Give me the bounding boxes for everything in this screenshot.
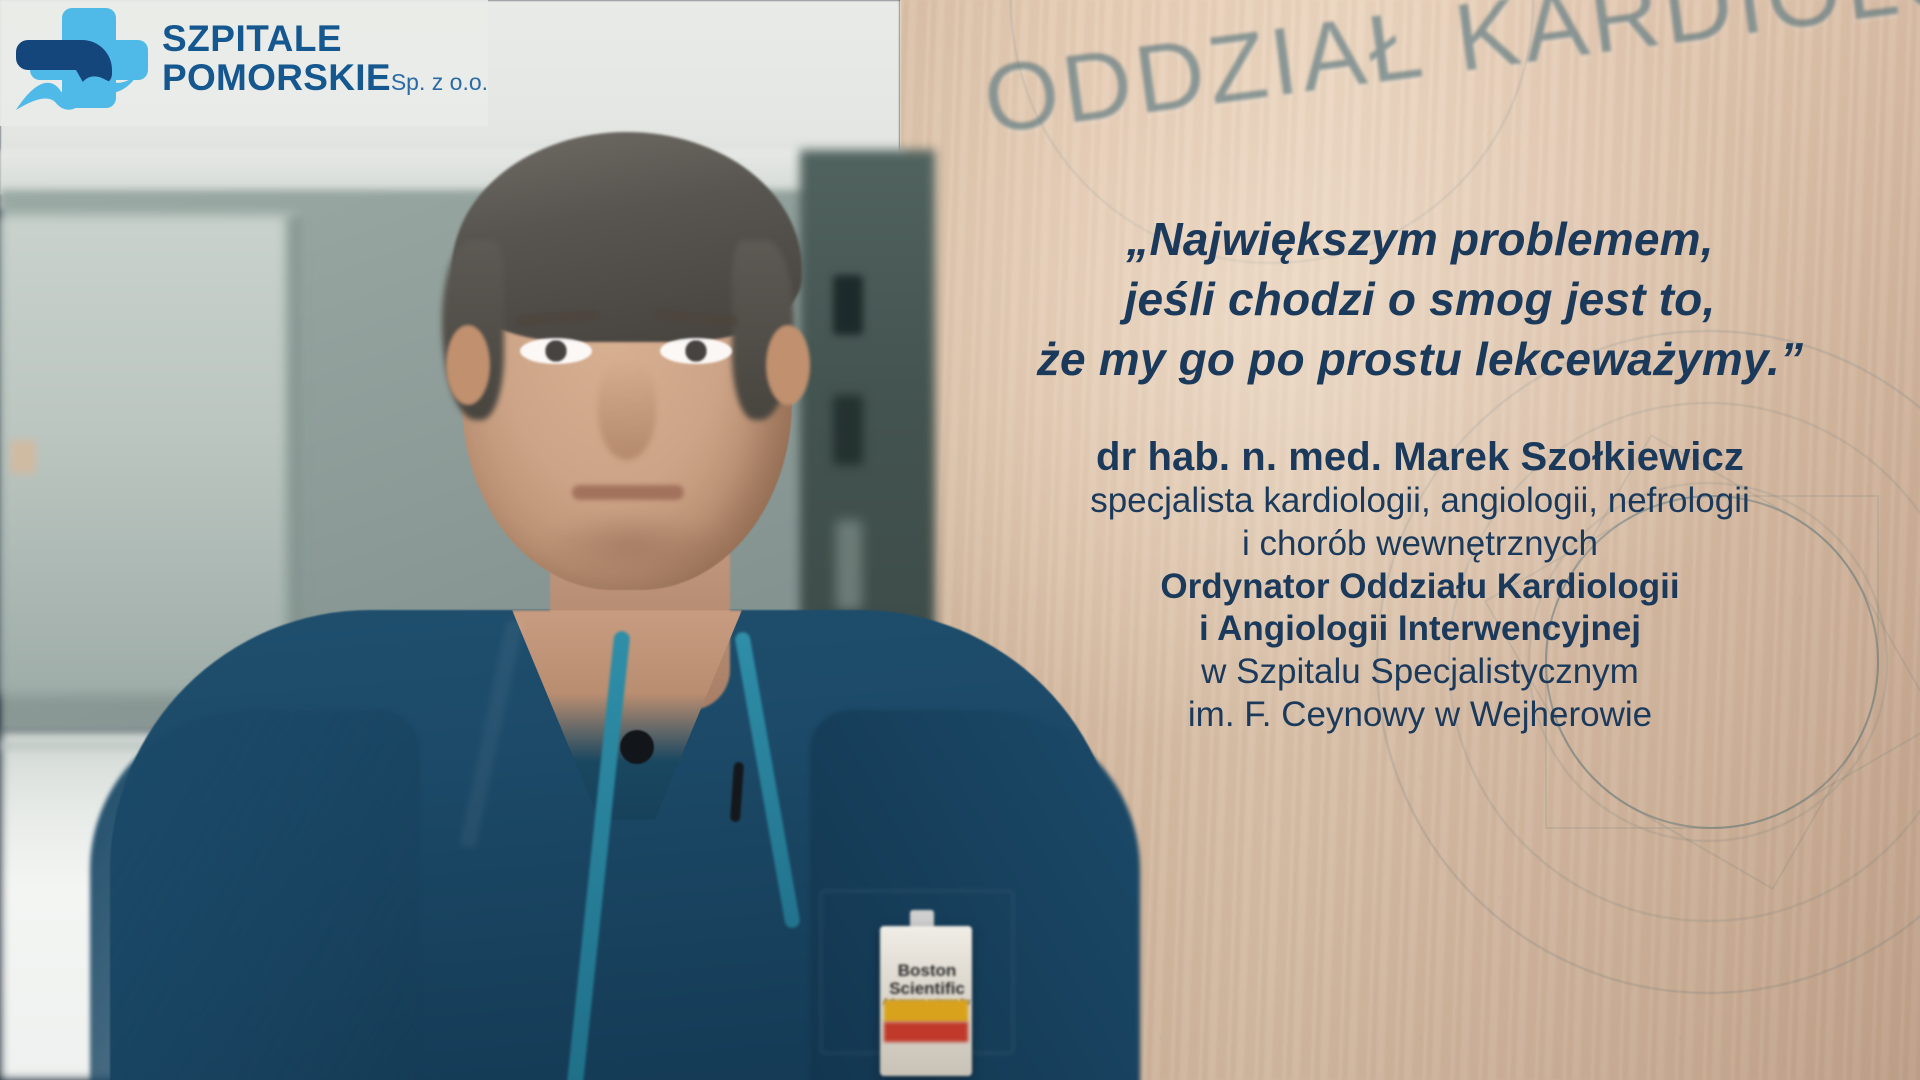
shoulder-left <box>90 710 420 1080</box>
wall-socket <box>10 440 36 474</box>
ear-right <box>766 325 810 405</box>
hospital-cross-wave-icon <box>14 6 162 116</box>
speaker-role-line-1: Ordynator Oddziału Kardiologii <box>940 566 1900 609</box>
badge-brand-line1: Boston <box>898 961 957 980</box>
logo-line-2: POMORSKIESp. z o.o. <box>162 59 488 96</box>
logo-suffix: Sp. z o.o. <box>391 69 488 95</box>
video-frame: ODDZIAŁ KARDIOLOGII <box>0 0 1920 1080</box>
quote-line-1: „Największym problemem, <box>940 210 1900 270</box>
lower-third-overlay: „Największym problemem, jeśli chodzi o s… <box>940 210 1900 737</box>
speaker-role-line-2: i Angiologii Interwencyjnej <box>940 608 1900 651</box>
logo-line-1: SZPITALE <box>162 20 488 57</box>
badge-stripe-red <box>884 1022 968 1042</box>
badge-stripe-yellow <box>884 1000 968 1022</box>
logo-wordmark: SZPITALE POMORSKIESp. z o.o. <box>162 20 488 96</box>
logo-line-2-main: POMORSKIE <box>162 57 391 98</box>
quote-line-2: jeśli chodzi o smog jest to, <box>940 270 1900 330</box>
quote-line-3: że my go po prostu lekceważymy.” <box>940 330 1900 390</box>
ear-left <box>446 325 490 405</box>
quote-block: „Największym problemem, jeśli chodzi o s… <box>940 210 1900 389</box>
mouth <box>572 485 684 500</box>
brand-logo: SZPITALE POMORSKIESp. z o.o. <box>14 6 484 118</box>
speaker-place-line-2: im. F. Ceynowy w Wejherowie <box>940 694 1900 737</box>
chin-shadow <box>540 510 720 580</box>
speaker-name: dr hab. n. med. Marek Szołkiewicz <box>940 435 1900 480</box>
speaker-place-line-1: w Szpitalu Specjalistycznym <box>940 651 1900 694</box>
nose <box>598 362 656 460</box>
lapel-microphone <box>620 730 654 764</box>
speaker-credentials-line-1: specjalista kardiologii, angiologii, nef… <box>940 480 1900 523</box>
eye-left <box>520 338 592 364</box>
eye-right <box>660 338 732 364</box>
speaker-credentials-line-2: i chorób wewnętrznych <box>940 523 1900 566</box>
badge-brand-line2: Scientific <box>889 979 965 998</box>
